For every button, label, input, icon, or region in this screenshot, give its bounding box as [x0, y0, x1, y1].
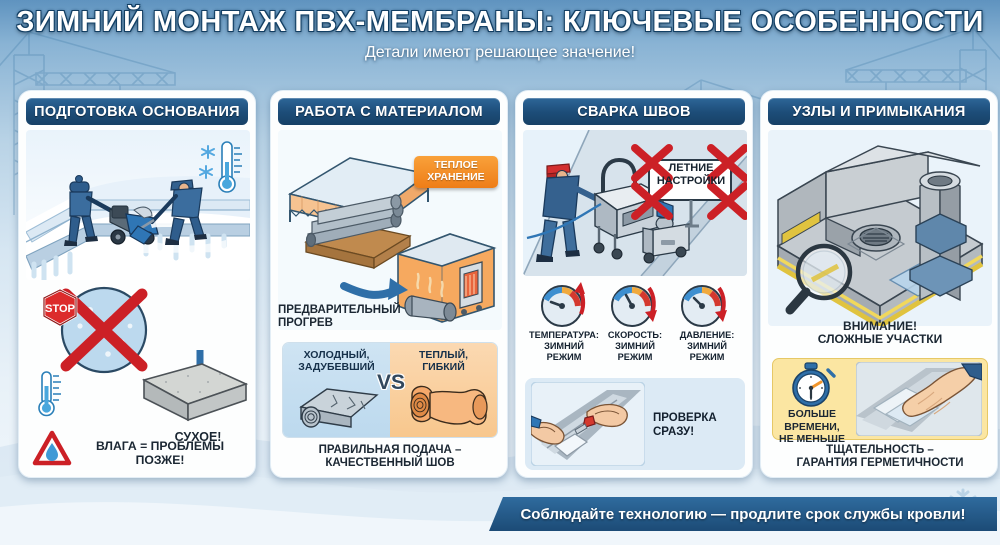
warm-line1: ТЕПЛЫЙ,: [419, 349, 468, 361]
warm-storage-badge-line2: ХРАНЕНИЕ: [427, 171, 484, 183]
press-label-1: ДАВЛЕНИЕ:: [680, 330, 735, 340]
panel-details-body: ВНИМАНИЕ! СЛОЖНЫЕ УЧАСТКИ БОЛЬШЕ ВРЕМЕНИ…: [768, 130, 992, 478]
details-caption-line1: ТЩАТЕЛЬНОСТЬ –: [826, 444, 934, 456]
attention-line2: СЛОЖНЫЕ УЧАСТКИ: [818, 332, 942, 346]
warm-flexible-roll-icon: [398, 375, 494, 433]
roof-details-scene: [768, 130, 992, 326]
attention-label: ВНИМАНИЕ! СЛОЖНЫЕ УЧАСТКИ: [768, 320, 992, 347]
warm-line2: ГИБКИЙ: [422, 361, 465, 373]
cold-line1: ХОЛОДНЫЙ,: [304, 349, 370, 361]
title-block: ЗИМНИЙ МОНТАЖ ПВХ-МЕМБРАНЫ: КЛЮЧЕВЫЕ ОСО…: [0, 6, 1000, 62]
label-moisture-warning: ВЛАГА = ПРОБЛЕМЫ ПОЗЖЕ!: [70, 440, 250, 467]
sign-line1: ЛЕТНИЕ: [669, 162, 714, 174]
summer-settings-sign-text: ЛЕТНИЕ НАСТРОЙКИ: [651, 162, 731, 187]
warm-storage-badge: ТЕПЛОЕ ХРАНЕНИЕ: [414, 156, 498, 188]
warm-roll-label: ТЕПЛЫЙ, ГИБКИЙ: [390, 350, 497, 374]
temperature-gauge-icon: [535, 280, 595, 328]
thermometer-small-icon: [34, 366, 74, 426]
page-subtitle: Детали имеют решающее значение!: [0, 44, 1000, 62]
stopwatch-icon: [780, 362, 842, 408]
cold-roll-side: ХОЛОДНЫЙ, ЗАДУБЕВШИЙ: [283, 343, 390, 437]
check-line1: ПРОВЕРКА: [653, 412, 717, 424]
cold-vs-warm-comparison: ХОЛОДНЫЙ, ЗАДУБЕВШИЙ ТЕПЛЫЙ, ГИБКИЙ: [282, 342, 498, 438]
panel-material-body: ТЕПЛОЕ ХРАНЕНИЕ ПРЕДВАРИТЕЛЬНЫЙ ПРОГРЕВ …: [278, 130, 502, 478]
page-title: ЗИМНИЙ МОНТАЖ ПВХ-МЕМБРАНЫ: КЛЮЧЕВЫЕ ОСО…: [0, 6, 1000, 39]
stop-sign-icon: STOP: [44, 290, 76, 325]
footer-banner-text: Соблюдайте технологию — продлите срок сл…: [520, 506, 965, 523]
more-time-label: БОЛЬШЕ ВРЕМЕНИ, НЕ МЕНЬШЕ: [774, 408, 850, 446]
press-label-2: ЗИМНИЙ: [687, 341, 727, 351]
warm-storage-badge-line1: ТЕПЛОЕ: [434, 159, 478, 171]
time-line1: БОЛЬШЕ: [788, 408, 836, 420]
panel-material-title: РАБОТА С МАТЕРИАЛОМ: [278, 98, 500, 125]
sign-line2: НАСТРОЙКИ: [657, 175, 725, 187]
speed-gauge-label: СКОРОСТЬ: ЗИМНИЙ РЕЖИМ: [595, 330, 675, 363]
hand-pressing-patch-icon: [856, 362, 982, 436]
panel-preparation-title: ПОДГОТОВКА ОСНОВАНИЯ: [26, 98, 248, 125]
panel-details-title: УЗЛЫ И ПРИМЫКАНИЯ: [768, 98, 990, 125]
svg-text:STOP: STOP: [45, 303, 75, 315]
details-caption: ТЩАТЕЛЬНОСТЬ – ГАРАНТИЯ ГЕРМЕТИЧНОСТИ: [768, 444, 992, 470]
check-line2: СРАЗУ!: [653, 426, 694, 438]
material-caption-line1: ПРАВИЛЬНАЯ ПОДАЧА –: [319, 444, 462, 456]
speed-label-1: СКОРОСТЬ:: [608, 330, 662, 340]
footer-banner: Соблюдайте технологию — продлите срок сл…: [489, 497, 997, 531]
cold-stiff-roll-icon: [293, 377, 385, 433]
temp-label-3: РЕЖИМ: [547, 352, 582, 362]
speed-gauge-icon: [605, 280, 665, 328]
pressure-gauge-label: ДАВЛЕНИЕ: ЗИМНИЙ РЕЖИМ: [665, 330, 749, 363]
press-label-3: РЕЖИМ: [690, 352, 725, 362]
details-caption-line2: ГАРАНТИЯ ГЕРМЕТИЧНОСТИ: [796, 457, 963, 469]
panel-welding-title: СВАРКА ШВОВ: [523, 98, 745, 125]
cold-line2: ЗАДУБЕВШИЙ: [298, 361, 374, 373]
cold-roll-label: ХОЛОДНЫЙ, ЗАДУБЕВШИЙ: [283, 350, 390, 374]
preheat-line1: ПРЕДВАРИТЕЛЬНЫЙ: [278, 304, 401, 316]
panel-material[interactable]: РАБОТА С МАТЕРИАЛОМ: [270, 90, 508, 478]
material-caption: ПРАВИЛЬНАЯ ПОДАЧА – КАЧЕСТВЕННЫЙ ШОВ: [278, 444, 502, 470]
panel-preparation-body: STOP: [26, 130, 250, 478]
panel-welding-body: ЛЕТНИЕ НАСТРОЙКИ: [523, 130, 747, 478]
preheat-label: ПРЕДВАРИТЕЛЬНЫЙ ПРОГРЕВ: [278, 304, 402, 330]
check-immediately-label: ПРОВЕРКА СРАЗУ!: [653, 412, 745, 440]
panel-welding[interactable]: СВАРКА ШВОВ: [515, 90, 753, 478]
workers-clearing-snow-scene: [26, 130, 250, 280]
time-line2: ВРЕМЕНИ,: [784, 421, 839, 433]
seam-check-hands-icon: [531, 382, 645, 466]
temp-label-1: ТЕМПЕРАТУРА:: [529, 330, 599, 340]
warning-triangle-water-icon: [32, 430, 72, 466]
panel-preparation[interactable]: ПОДГОТОВКА ОСНОВАНИЯ: [18, 90, 256, 478]
temp-label-2: ЗИМНИЙ: [544, 341, 584, 351]
warm-flexible-roll-side: ТЕПЛЫЙ, ГИБКИЙ: [390, 343, 497, 437]
material-caption-line2: КАЧЕСТВЕННЫЙ ШОВ: [325, 457, 454, 469]
attention-line1: ВНИМАНИЕ!: [843, 319, 917, 333]
pressure-gauge-icon: [675, 280, 735, 328]
speed-label-3: РЕЖИМ: [618, 352, 653, 362]
panel-details[interactable]: УЗЛЫ И ПРИМЫКАНИЯ: [760, 90, 998, 478]
speed-label-2: ЗИМНИЙ: [615, 341, 655, 351]
vs-mark: VS: [377, 371, 405, 395]
preheat-line2: ПРОГРЕВ: [278, 317, 333, 329]
welding-machine-scene: [523, 130, 747, 276]
infographic-stage: ЗИМНИЙ МОНТАЖ ПВХ-МЕМБРАНЫ: КЛЮЧЕВЫЕ ОСО…: [0, 0, 1000, 545]
